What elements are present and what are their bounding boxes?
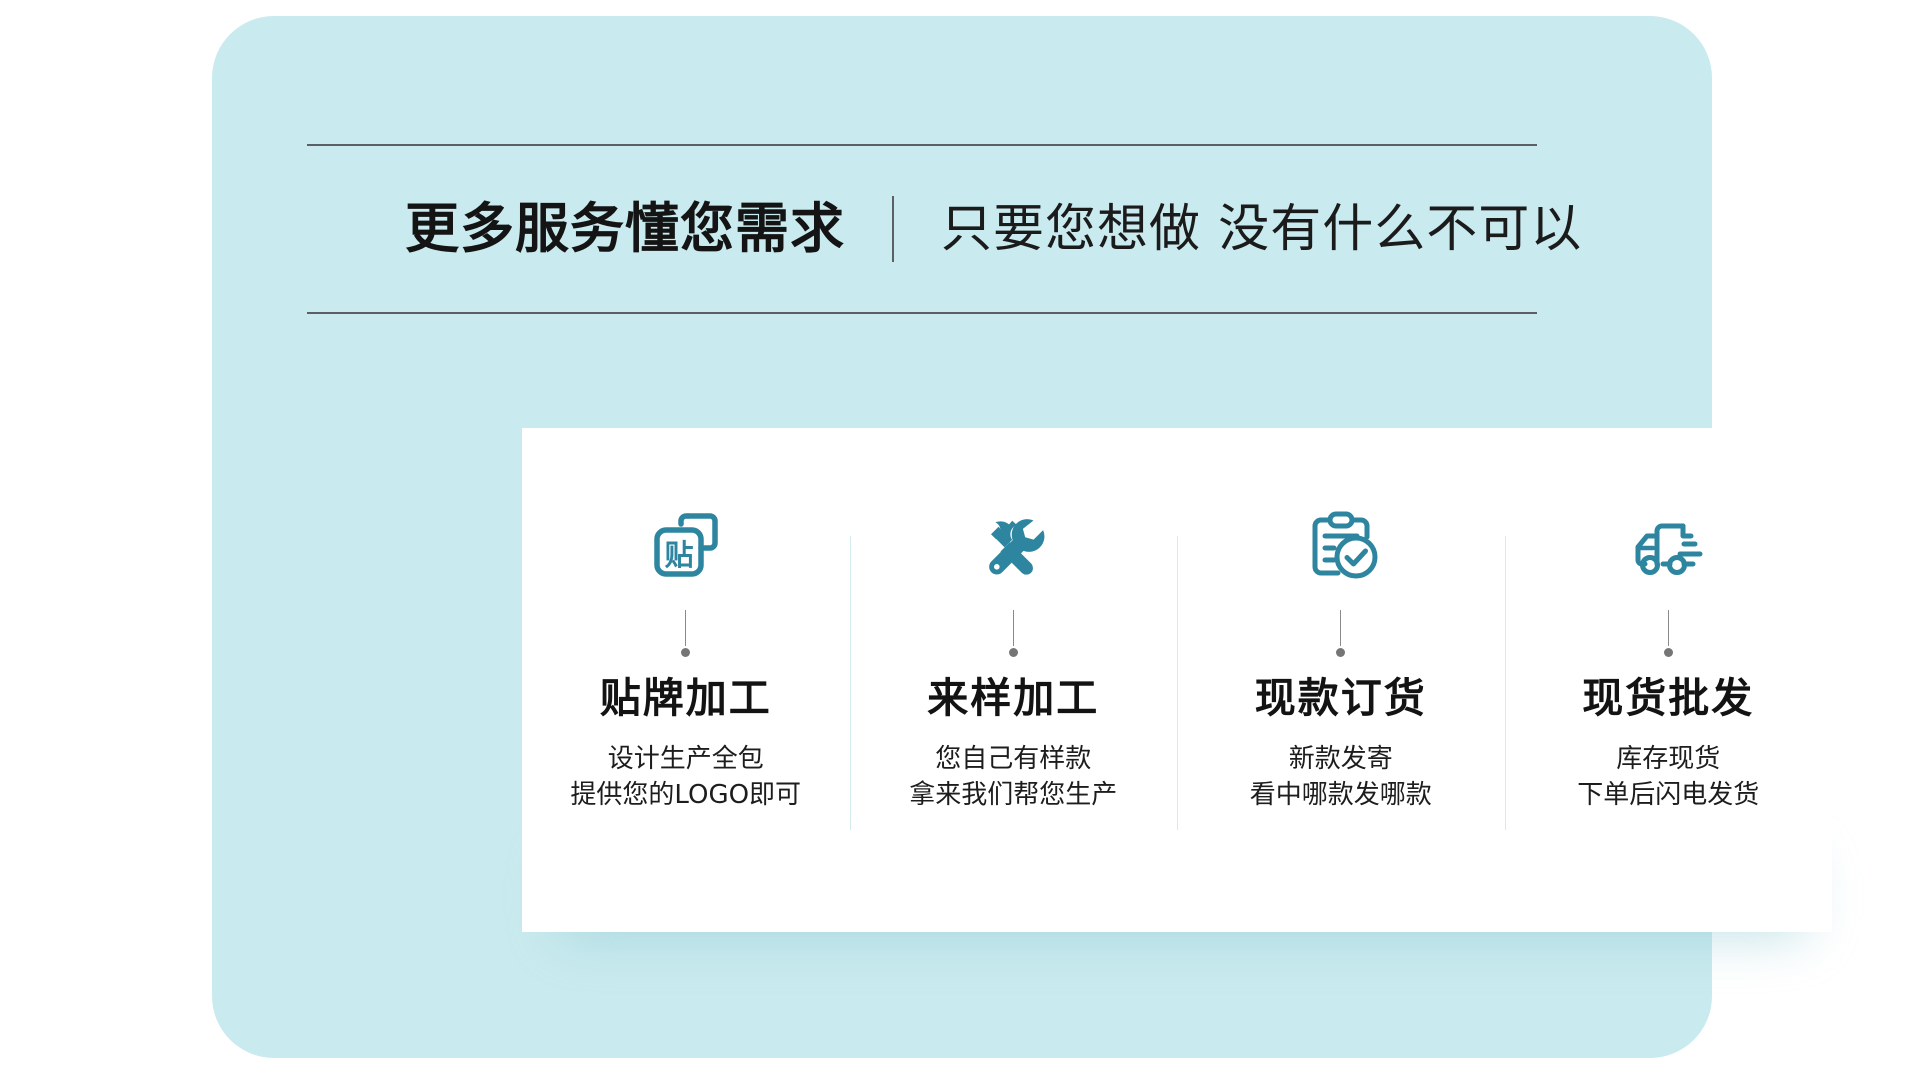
feature-item-sample[interactable]: 来样加工 您自己有样款 拿来我们帮您生产 <box>850 428 1178 932</box>
feature-desc: 新款发寄 看中哪款发哪款 <box>1250 742 1432 814</box>
feature-desc-line2: 看中哪款发哪款 <box>1250 778 1432 814</box>
feature-desc-line1: 新款发寄 <box>1250 742 1432 778</box>
feature-desc-line2: 下单后闪电发货 <box>1577 778 1759 814</box>
header-rule-bottom <box>307 312 1537 314</box>
feature-desc: 设计生产全包 提供您的LOGO即可 <box>570 742 801 814</box>
hammer-wrench-icon <box>971 502 1055 588</box>
connector-line <box>1013 610 1014 646</box>
connector <box>681 610 690 657</box>
feature-card: 贴 贴牌加工 设计生产全包 提供您的LOGO即可 <box>522 428 1832 932</box>
feature-title: 来样加工 <box>927 675 1099 722</box>
delivery-truck-icon <box>1626 502 1710 588</box>
connector-dot <box>681 648 690 657</box>
header-block: 更多服务懂您需求 只要您想做 没有什么不可以 <box>307 144 1537 314</box>
feature-desc: 库存现货 下单后闪电发货 <box>1577 742 1759 814</box>
feature-list: 贴 贴牌加工 设计生产全包 提供您的LOGO即可 <box>522 428 1832 932</box>
connector-line <box>685 610 686 646</box>
connector-dot <box>1336 648 1345 657</box>
label-tag-icon: 贴 <box>644 502 728 588</box>
headline-primary: 更多服务懂您需求 <box>405 202 845 256</box>
feature-desc-line1: 设计生产全包 <box>570 742 801 778</box>
feature-desc-line1: 库存现货 <box>1577 742 1759 778</box>
connector-dot <box>1664 648 1673 657</box>
feature-desc-line2: 提供您的LOGO即可 <box>570 778 801 814</box>
feature-desc: 您自己有样款 拿来我们帮您生产 <box>909 742 1117 814</box>
connector-line <box>1668 610 1669 646</box>
feature-title: 现货批发 <box>1582 675 1754 722</box>
feature-desc-line2: 拿来我们帮您生产 <box>909 778 1117 814</box>
feature-item-oem[interactable]: 贴 贴牌加工 设计生产全包 提供您的LOGO即可 <box>522 428 850 932</box>
headline-row: 更多服务懂您需求 只要您想做 没有什么不可以 <box>307 146 1537 312</box>
connector <box>1664 610 1673 657</box>
feature-desc-line1: 您自己有样款 <box>909 742 1117 778</box>
headline-divider <box>892 196 894 262</box>
connector <box>1336 610 1345 657</box>
headline-secondary: 只要您想做 没有什么不可以 <box>941 204 1582 255</box>
feature-title: 贴牌加工 <box>600 675 772 722</box>
connector-dot <box>1009 648 1018 657</box>
feature-item-stock-wholesale[interactable]: 现货批发 库存现货 下单后闪电发货 <box>1505 428 1833 932</box>
promo-banner-panel: 更多服务懂您需求 只要您想做 没有什么不可以 贴 <box>212 16 1712 1058</box>
clipboard-check-icon <box>1299 502 1383 588</box>
feature-item-prepaid-order[interactable]: 现款订货 新款发寄 看中哪款发哪款 <box>1177 428 1505 932</box>
connector <box>1009 610 1018 657</box>
svg-text:贴: 贴 <box>664 538 693 572</box>
connector-line <box>1340 610 1341 646</box>
feature-title: 现款订货 <box>1255 675 1427 722</box>
